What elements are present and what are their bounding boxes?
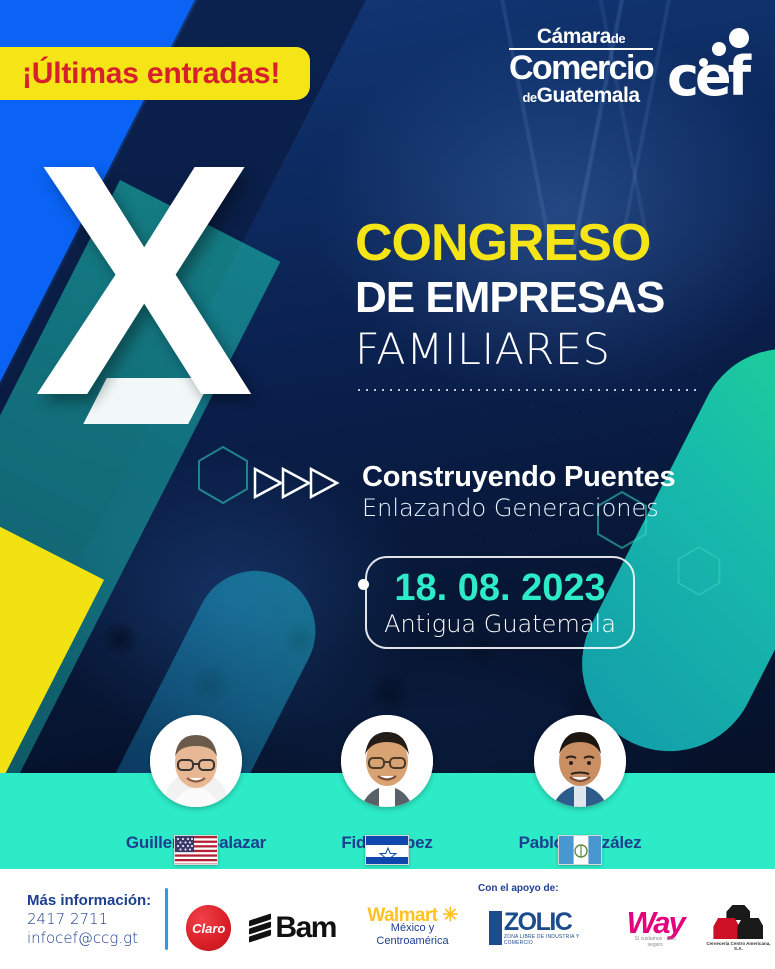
flag-el-salvador-icon <box>365 835 409 865</box>
hexagon-outline-icon <box>676 545 722 597</box>
cef-logo-text: cef <box>667 45 747 108</box>
flag-usa-icon <box>174 835 218 865</box>
ccg-logo-de-1: de <box>611 31 625 46</box>
event-date-box: 18. 08. 2023 Antigua Guatemala <box>365 556 635 649</box>
sponsor-logo-walmart: Walmart ✳ México y Centroamérica <box>354 909 471 948</box>
speaker-avatar <box>150 715 242 807</box>
claro-label: Claro <box>192 921 225 936</box>
contact-info: Más información: 2417 2711 infocef@ccg.g… <box>0 891 165 948</box>
dotted-divider <box>355 388 700 392</box>
speaker-card: Fidel López <box>307 715 467 853</box>
support-label: Con el apoyo de: <box>478 883 559 894</box>
speaker-portrait <box>341 715 433 807</box>
sponsor-logo-cerveceria: Cervecería Centro Americana, S.A. <box>702 905 775 951</box>
zolic-bar-icon <box>489 911 502 945</box>
title-line-congreso: CONGRESO <box>355 214 755 272</box>
contact-title: Más información: <box>27 891 165 910</box>
way-label: Way <box>627 909 684 936</box>
way-sublabel: Sí cuidamos · sino seguro <box>627 936 684 948</box>
ccg-logo-line1: Cámara <box>537 25 611 48</box>
organizer-logos: Cámarade Comercio deGuatemala cef <box>509 26 753 106</box>
speaker-avatar <box>534 715 626 807</box>
tagline-sub: Enlazando Generaciones <box>362 494 675 522</box>
event-location: Antigua Guatemala <box>384 610 616 638</box>
sponsor-logo-zolic: ZOLIC ZONA LIBRE DE INDUSTRIA Y COMERCIO <box>489 911 609 946</box>
cef-logo: cef <box>667 28 753 104</box>
speaker-portrait <box>534 715 626 807</box>
speaker-avatar <box>341 715 433 807</box>
cerveceria-label: Cervecería Centro Americana, S.A. <box>702 941 775 951</box>
walmart-spark-icon: ✳ <box>442 905 457 926</box>
speaker-card: Pablo González <box>500 715 660 853</box>
zolic-sublabel: ZONA LIBRE DE INDUSTRIA Y COMERCIO <box>504 934 609 946</box>
sponsor-logo-claro: Claro <box>186 905 231 951</box>
last-tickets-badge: ¡Últimas entradas! <box>0 47 310 100</box>
sponsor-logo-bam: Bam <box>249 911 336 945</box>
event-title: CONGRESO DE EMPRESAS FAMILIARES <box>355 214 755 392</box>
ccg-logo-line3: Guatemala <box>537 84 640 107</box>
zolic-label: ZOLIC <box>504 911 609 934</box>
sponsor-logo-way: Way Sí cuidamos · sino seguro <box>627 909 684 948</box>
edition-roman-numeral: X <box>34 130 244 430</box>
contact-phone[interactable]: 2417 2711 <box>27 910 165 929</box>
camara-comercio-logo: Cámarade Comercio deGuatemala <box>509 26 653 106</box>
ccg-logo-line2: Comercio <box>509 51 653 85</box>
sponsor-logos: Con el apoyo de: Claro Bam Walmart ✳ Méx… <box>168 869 775 969</box>
speaker-card: Guillermo Salazar <box>116 715 276 853</box>
cerveceria-mark-icon <box>713 905 763 939</box>
triple-arrow-icon <box>253 466 353 500</box>
contact-email[interactable]: infocef@ccg.gt <box>27 929 165 948</box>
bam-mark-icon <box>249 915 271 941</box>
event-tagline: Construyendo Puentes Enlazando Generacio… <box>362 461 675 522</box>
event-date: 18. 08. 2023 <box>394 567 605 610</box>
event-poster: ¡Últimas entradas! Cámarade Comercio deG… <box>0 0 775 969</box>
bam-label: Bam <box>275 911 336 945</box>
title-line-de-empresas: DE EMPRESAS <box>355 272 755 324</box>
tagline-main: Construyendo Puentes <box>362 461 675 494</box>
flag-guatemala-icon <box>558 835 602 865</box>
speaker-portrait <box>150 715 242 807</box>
ccg-logo-de-2: de <box>522 90 536 105</box>
title-line-familiares: FAMILIARES <box>355 324 755 376</box>
poster-footer: Más información: 2417 2711 infocef@ccg.g… <box>0 869 775 969</box>
speakers-section: Guillermo Salazar <box>0 709 775 869</box>
